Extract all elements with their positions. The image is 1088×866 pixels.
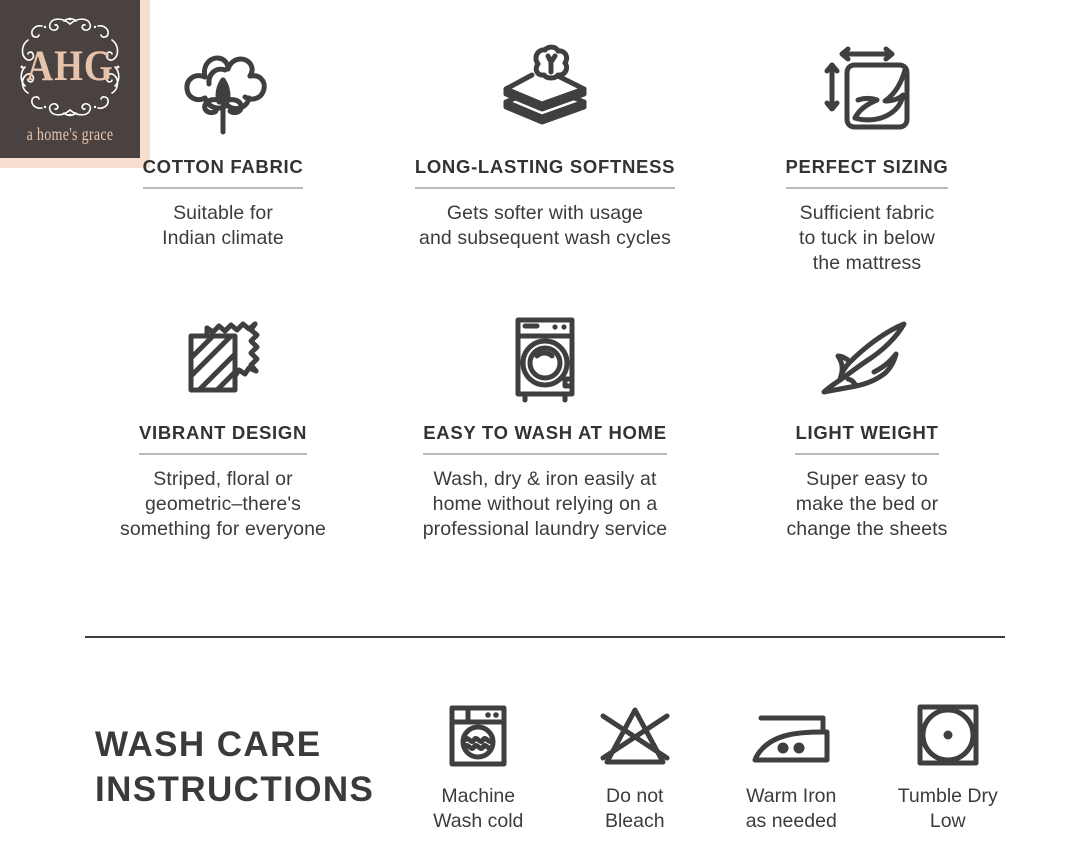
- feature-long-lasting-softness: LONG-LASTING SOFTNESS Gets softer with u…: [384, 24, 706, 276]
- washing-machine-icon: [497, 290, 593, 422]
- care-item-machine-wash-cold: Machine Wash cold: [400, 700, 557, 834]
- feature-title: VIBRANT DESIGN: [139, 422, 307, 467]
- title-underline: [139, 453, 307, 455]
- fitted-sheet-measure-icon: [815, 24, 919, 156]
- feature-description: Sufficient fabric to tuck in below the m…: [799, 201, 935, 276]
- care-label: Tumble Dry Low: [898, 784, 998, 834]
- title-underline: [423, 453, 667, 455]
- care-label: Do not Bleach: [605, 784, 665, 834]
- care-item-warm-iron: Warm Iron as needed: [713, 700, 870, 834]
- feature-description: Suitable for Indian climate: [162, 201, 284, 251]
- care-item-do-not-bleach: Do not Bleach: [557, 700, 714, 834]
- feature-vibrant-design: VIBRANT DESIGN Striped, floral or geomet…: [62, 290, 384, 542]
- feature-title: COTTON FABRIC: [143, 156, 304, 201]
- feature-title: PERFECT SIZING: [786, 156, 949, 201]
- feature-title: LONG-LASTING SOFTNESS: [415, 156, 675, 201]
- feature-row-2: VIBRANT DESIGN Striped, floral or geomet…: [62, 290, 1028, 542]
- do-not-bleach-icon: [597, 700, 673, 772]
- warm-iron-icon: [747, 700, 835, 772]
- title-underline: [415, 187, 675, 189]
- feature-cotton-fabric: COTTON FABRIC Suitable for Indian climat…: [62, 24, 384, 276]
- feature-row-1: COTTON FABRIC Suitable for Indian climat…: [62, 24, 1028, 276]
- fabric-swatch-striped-icon: [173, 290, 273, 422]
- feature-description: Wash, dry & iron easily at home without …: [423, 467, 668, 542]
- title-underline: [795, 453, 938, 455]
- feature-grid: COTTON FABRIC Suitable for Indian climat…: [62, 24, 1028, 542]
- title-underline: [143, 187, 304, 189]
- feature-perfect-sizing: PERFECT SIZING Sufficient fabric to tuck…: [706, 24, 1028, 276]
- wash-care-section: WASH CARE INSTRUCTIONS Machine Wash cold: [0, 700, 1088, 834]
- care-label: Warm Iron as needed: [746, 784, 837, 834]
- wash-care-heading-line-1: WASH CARE: [95, 722, 400, 767]
- title-underline: [786, 187, 949, 189]
- feature-light-weight: LIGHT WEIGHT Super easy to make the bed …: [706, 290, 1028, 542]
- wash-care-symbol-list: Machine Wash cold Do not Bleach: [400, 700, 1088, 834]
- fabric-layers-cotton-icon: [490, 24, 600, 156]
- feature-easy-to-wash: EASY TO WASH AT HOME Wash, dry & iron ea…: [384, 290, 706, 542]
- care-item-tumble-dry-low: Tumble Dry Low: [870, 700, 1027, 834]
- wash-care-heading-line-2: INSTRUCTIONS: [95, 767, 400, 812]
- feature-description: Super easy to make the bed or change the…: [786, 467, 947, 542]
- feature-title: EASY TO WASH AT HOME: [423, 422, 667, 467]
- feature-description: Gets softer with usage and subsequent wa…: [419, 201, 671, 251]
- feature-title: LIGHT WEIGHT: [795, 422, 938, 467]
- care-label: Machine Wash cold: [433, 784, 523, 834]
- feather-icon: [812, 290, 922, 422]
- feature-description: Striped, floral or geometric–there's som…: [120, 467, 326, 542]
- wash-care-heading: WASH CARE INSTRUCTIONS: [0, 700, 400, 812]
- tumble-dry-low-icon: [915, 700, 981, 772]
- section-divider: [85, 636, 1005, 638]
- machine-wash-cold-icon: [446, 700, 510, 772]
- cotton-plant-icon: [175, 24, 271, 156]
